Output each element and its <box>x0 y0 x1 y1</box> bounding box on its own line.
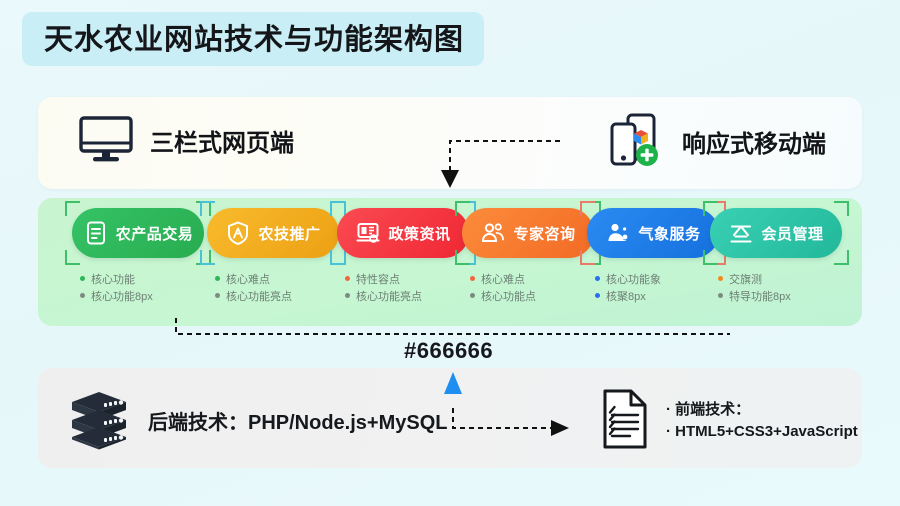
corner-bracket-bl <box>200 250 215 265</box>
module-bullets: 核心功能象 核聚8px <box>595 270 661 304</box>
bullet-text: 特导功能8px <box>729 288 791 304</box>
module-card-4[interactable]: 气象服务 核心功能象 核聚8px <box>587 208 719 312</box>
bullet-dot <box>215 293 220 298</box>
frontend-tech-line1: · 前端技术： <box>666 398 858 419</box>
corner-bracket-br <box>834 250 849 265</box>
bullet-item: 核心功能 <box>80 270 153 287</box>
endpoint-web[interactable]: 三栏式网页端 <box>78 115 294 165</box>
shield-plant-icon <box>225 220 251 246</box>
module-bullets: 核心功能 核心功能8px <box>80 270 153 304</box>
bullet-text: 核心功能象 <box>606 271 661 287</box>
corner-bracket-tl <box>200 201 215 216</box>
corner-bracket-tl <box>455 201 470 216</box>
corner-bracket-tl <box>65 201 80 216</box>
bullet-dot <box>345 276 350 281</box>
bullet-text: 核心功能8px <box>91 288 153 304</box>
bullet-item: 核聚8px <box>595 287 661 304</box>
corner-bracket-tl <box>580 201 595 216</box>
module-card-2[interactable]: 政策资讯 特性容点 核心功能亮点 <box>337 208 469 312</box>
endpoint-mobile-label: 响应式移动端 <box>682 124 826 159</box>
desktop-monitor-icon <box>78 115 134 165</box>
module-label: 专家咨询 <box>513 223 575 244</box>
module-bullets: 核心难点 核心功能点 <box>470 270 536 304</box>
backend-tech-label: 后端技术：PHP/Node.js+MySQL <box>148 406 448 435</box>
membership-icon <box>728 220 754 246</box>
bullet-text: 核心功能亮点 <box>356 288 422 304</box>
bullet-item: 特性容点 <box>345 270 422 287</box>
module-card-0[interactable]: 农产品交易 核心功能 核心功能8px <box>72 208 204 312</box>
corner-bracket-bl <box>455 250 470 265</box>
corner-bracket-tl <box>330 201 345 216</box>
bullet-dot <box>595 293 600 298</box>
bullet-dot <box>718 293 723 298</box>
module-bullets: 核心难点 核心功能亮点 <box>215 270 292 304</box>
endpoint-mobile[interactable]: 响应式移动端 <box>608 112 826 170</box>
module-card-5[interactable]: 会员管理 交旗测 特导功能8px <box>710 208 842 312</box>
bullet-text: 核心难点 <box>226 271 270 287</box>
news-screen-icon <box>355 220 381 246</box>
hex-color-label: #666666 <box>404 338 493 364</box>
bullet-dot <box>345 293 350 298</box>
mobile-devices-icon <box>608 112 666 170</box>
module-label: 会员管理 <box>761 223 823 244</box>
bullet-text: 核聚8px <box>606 288 646 304</box>
bullet-text: 交旗测 <box>729 271 762 287</box>
document-list-icon <box>83 220 109 246</box>
module-card-3[interactable]: 专家咨询 核心难点 核心功能点 <box>462 208 594 312</box>
backend-tech-item[interactable]: 后端技术：PHP/Node.js+MySQL <box>68 390 448 450</box>
frontend-tech-item[interactable]: · 前端技术： · HTML5+CSS3+JavaScript <box>600 388 858 450</box>
bullet-item: 特导功能8px <box>718 287 791 304</box>
corner-bracket-bl <box>580 250 595 265</box>
module-label: 政策资讯 <box>388 223 450 244</box>
bullet-item: 交旗测 <box>718 270 791 287</box>
module-bullets: 特性容点 核心功能亮点 <box>345 270 422 304</box>
module-card-1[interactable]: 农技推广 核心难点 核心功能亮点 <box>207 208 339 312</box>
frontend-tech-line2: · HTML5+CSS3+JavaScript <box>666 423 858 440</box>
bullet-text: 核心功能点 <box>481 288 536 304</box>
module-label: 农技推广 <box>258 223 320 244</box>
corner-bracket-bl <box>703 250 718 265</box>
bullet-dot <box>718 276 723 281</box>
document-file-icon <box>600 388 650 450</box>
server-stack-icon <box>68 390 130 450</box>
bullet-item: 核心功能亮点 <box>345 287 422 304</box>
endpoint-web-label: 三栏式网页端 <box>150 123 294 158</box>
bullet-dot <box>595 276 600 281</box>
bullet-text: 核心功能亮点 <box>226 288 292 304</box>
corner-bracket-bl <box>65 250 80 265</box>
module-bullets: 交旗测 特导功能8px <box>718 270 791 304</box>
bullet-item: 核心功能象 <box>595 270 661 287</box>
bullet-text: 核心功能 <box>91 271 135 287</box>
module-label: 农产品交易 <box>116 223 194 244</box>
two-users-icon <box>480 220 506 246</box>
bullet-dot <box>470 293 475 298</box>
bullet-item: 核心难点 <box>215 270 292 287</box>
module-label: 气象服务 <box>638 223 700 244</box>
bullet-item: 核心难点 <box>470 270 536 287</box>
bullet-text: 核心难点 <box>481 271 525 287</box>
bullet-text: 特性容点 <box>356 271 400 287</box>
corner-bracket-tr <box>834 201 849 216</box>
page-title: 天水农业网站技术与功能架构图 <box>44 20 474 60</box>
corner-bracket-tl <box>703 201 718 216</box>
bullet-dot <box>215 276 220 281</box>
bullet-item: 核心功能亮点 <box>215 287 292 304</box>
bullet-dot <box>80 276 85 281</box>
user-cloud-icon <box>605 220 631 246</box>
diagram-canvas: 天水农业网站技术与功能架构图 三栏式网页端 <box>0 0 900 506</box>
bullet-item: 核心功能点 <box>470 287 536 304</box>
bullet-dot <box>470 276 475 281</box>
bullet-item: 核心功能8px <box>80 287 153 304</box>
bullet-dot <box>80 293 85 298</box>
corner-bracket-bl <box>330 250 345 265</box>
